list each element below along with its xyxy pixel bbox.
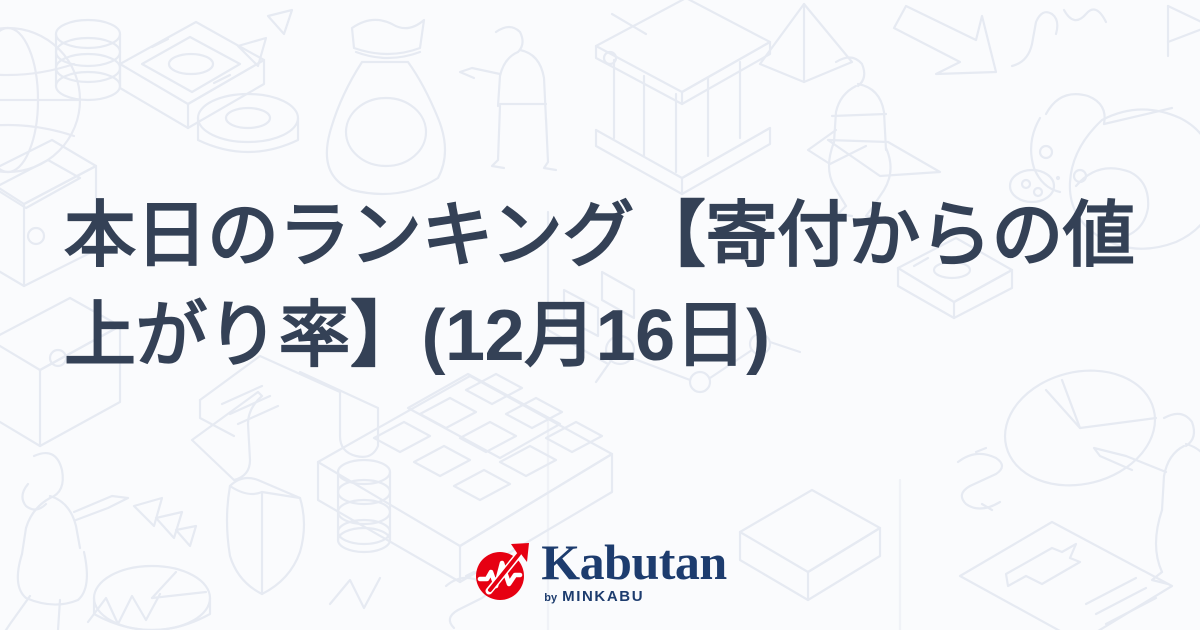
bank-building-icon [596, 0, 770, 194]
brand-by-label: by [544, 593, 557, 604]
brand-parent-name: MINKABU [562, 589, 644, 604]
coin-stack-icon [56, 20, 120, 100]
brand-wordmark: Kabutan [541, 539, 726, 587]
triangle-cursor-icon [238, 10, 292, 66]
globe-icon [0, 28, 80, 172]
dollar-sign-icon [958, 448, 1002, 510]
down-right-arrow-icon [894, 6, 996, 74]
flag-icon [1168, 6, 1200, 56]
life-ring-icon [198, 94, 298, 152]
page-title: 本日のランキング【寄付からの値上がり率】(12月16日) [64, 186, 1154, 386]
brand-byline: by MINKABU [544, 589, 644, 604]
kabutan-rising-arrow-icon [473, 541, 535, 601]
banknote-stack-icon [120, 22, 264, 128]
og-card: 本日のランキング【寄付からの値上がり率】(12月16日) Kabutan by … [0, 0, 1200, 630]
pyramid-icon [760, 4, 852, 82]
coin-stack-icon [1057, 177, 1059, 179]
person-presenting-icon [460, 27, 556, 170]
money-bag-icon [327, 20, 445, 194]
candlestick-line-icon [1012, 10, 1106, 67]
brand-lockup: Kabutan by MINKABU [0, 539, 1200, 605]
